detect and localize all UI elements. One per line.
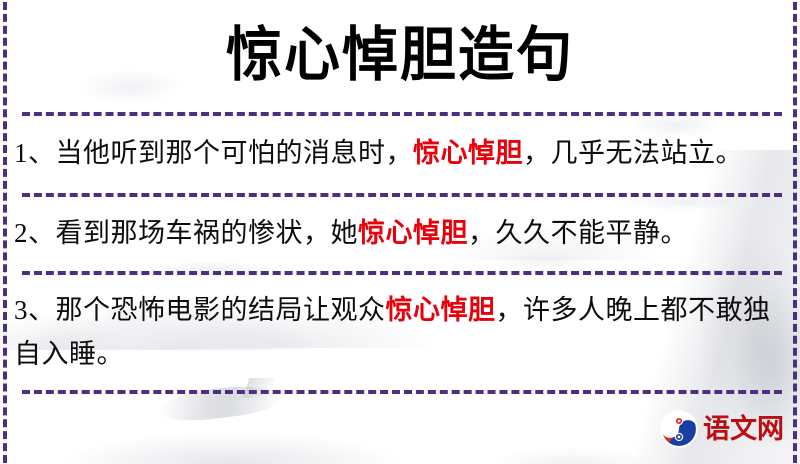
sentence-3-idiom: 惊心悼胆 [386,295,496,325]
sentence-2-text-after: ，久久不能平静。 [468,218,688,248]
sentence-2-idiom: 惊心悼胆 [358,218,468,248]
yuwen-yinyang-logo-icon [660,410,698,448]
sentence-3-number: 3、 [14,295,56,325]
divider-below-title [22,112,782,116]
title-band: 惊心悼胆造句 [0,0,800,112]
sentence-item-2: 2、看到那场车祸的惨状，她惊心悼胆，久久不能平静。 [14,211,784,255]
page-title: 惊心悼胆造句 [226,26,574,85]
sentence-2-text-before: 看到那场车祸的惨状，她 [56,218,359,248]
sentence-item-3: 3、那个恐怖电影的结局让观众惊心悼胆，许多人晚上都不敢独自入睡。 [14,288,784,376]
sentence-1-text-after: ，几乎无法站立。 [523,138,743,168]
sentence-2-number: 2、 [14,218,56,248]
divider-after-sentence-2 [22,271,782,275]
sentence-1-number: 1、 [14,138,56,168]
content-area: 惊心悼胆造句 1、当他听到那个可怕的消息时，惊心悼胆，几乎无法站立。 2、看到那… [0,0,800,464]
divider-after-sentence-1 [22,193,782,197]
sentence-3-text-before: 那个恐怖电影的结局让观众 [56,295,386,325]
sentence-item-1: 1、当他听到那个可怕的消息时，惊心悼胆，几乎无法站立。 [14,131,784,175]
site-logo-text: 语文网 [703,416,784,443]
site-logo[interactable]: 语文网 [660,410,784,448]
worksheet-page: 惊心悼胆造句 1、当他听到那个可怕的消息时，惊心悼胆，几乎无法站立。 2、看到那… [0,0,800,464]
divider-after-sentence-3 [22,390,782,394]
sentence-1-text-before: 当他听到那个可怕的消息时， [56,138,414,168]
sentence-1-idiom: 惊心悼胆 [413,138,523,168]
